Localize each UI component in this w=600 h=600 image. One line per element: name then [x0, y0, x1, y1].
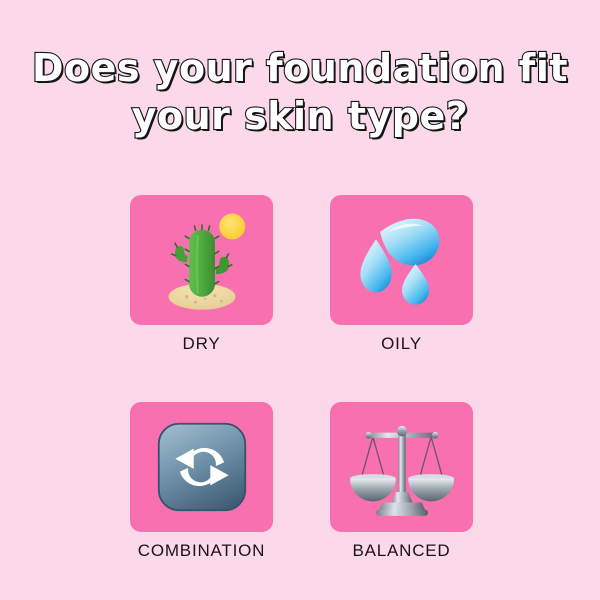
page-title-line-1: Does your foundation fit — [0, 44, 600, 92]
skin-type-row-1: DRY — [130, 195, 473, 354]
sweat-droplets-icon — [350, 208, 454, 312]
combination-label: COMBINATION — [138, 541, 266, 561]
skin-type-option-balanced[interactable]: BALANCED — [330, 402, 473, 561]
poster-canvas: Does your foundation fit your skin type? — [0, 0, 600, 600]
page-title-line-2: your skin type? — [0, 92, 600, 140]
oily-label: OILY — [381, 334, 422, 354]
balanced-card[interactable] — [330, 402, 473, 532]
dry-label: DRY — [183, 334, 221, 354]
skin-type-row-2: COMBINATION — [130, 402, 473, 561]
page-title: Does your foundation fit your skin type? — [0, 44, 600, 140]
cactus-icon — [148, 206, 256, 314]
skin-type-option-combination[interactable]: COMBINATION — [130, 402, 273, 561]
counterclockwise-arrows-icon — [156, 421, 248, 513]
skin-type-option-dry[interactable]: DRY — [130, 195, 273, 354]
skin-type-option-oily[interactable]: OILY — [330, 195, 473, 354]
dry-card[interactable] — [130, 195, 273, 325]
skin-type-grid: DRY — [130, 195, 473, 561]
balance-scale-icon — [350, 415, 454, 519]
balanced-label: BALANCED — [352, 541, 450, 561]
oily-card[interactable] — [330, 195, 473, 325]
combination-card[interactable] — [130, 402, 273, 532]
